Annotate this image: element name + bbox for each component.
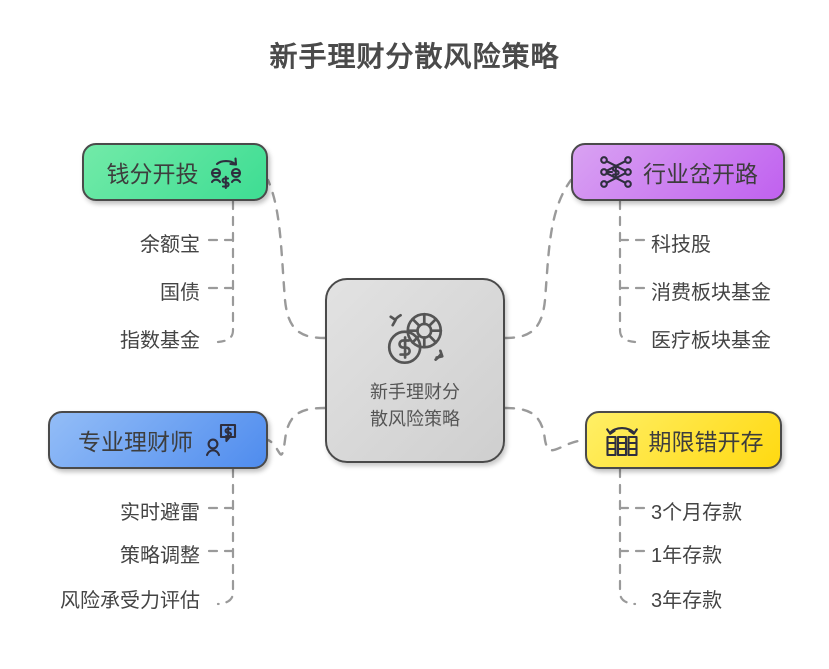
central-node-label: 新手理财分 散风险策略 [355,379,475,431]
mindmap-canvas: 新手理财分散风险策略 [0,0,829,669]
coin-lifering-icon [382,309,448,371]
leaf-term-ladder-0[interactable]: 3个月存款 [651,496,742,525]
leaf-term-ladder-1[interactable]: 1年存款 [651,539,722,568]
trunk-money-split [218,201,233,342]
deposit-ladder-icon [604,422,640,458]
leaf-professional-advisor-1[interactable]: 策略调整 [120,539,200,568]
page-title: 新手理财分散风险策略 [0,35,829,75]
trunk-professional-advisor [218,469,233,604]
branch-label-term-ladder: 期限错开存 [649,423,764,457]
leaf-industry-spread-0[interactable]: 科技股 [651,228,711,257]
branch-node-professional-advisor[interactable]: 专业理财师 [48,411,268,469]
branch-label-professional-advisor: 专业理财师 [78,423,193,457]
branch-node-money-split[interactable]: 钱分开投 [82,143,268,201]
leaf-term-ladder-2[interactable]: 3年存款 [651,584,722,613]
trunk-term-ladder [620,469,635,604]
leaf-industry-spread-1[interactable]: 消费板块基金 [651,276,771,305]
central-node-label-line2: 散风险策略 [355,406,475,432]
network-nodes-icon [598,154,634,190]
central-node[interactable]: 新手理财分 散风险策略 [325,278,505,463]
central-node-label-line1: 新手理财分 [355,379,475,405]
connector-center-to-money-split [268,180,325,338]
people-money-transfer-icon [208,154,244,190]
leaf-money-split-1[interactable]: 国债 [160,276,200,305]
leaf-money-split-0[interactable]: 余额宝 [140,228,200,257]
connector-center-to-professional-advisor [268,408,325,455]
leaf-professional-advisor-0[interactable]: 实时避雷 [120,496,200,525]
branch-node-industry-spread[interactable]: 行业岔开路 [571,143,785,201]
person-speech-dollar-icon [202,422,238,458]
connector-center-to-term-ladder [505,408,585,450]
branch-label-industry-spread: 行业岔开路 [643,155,758,189]
trunk-industry-spread [620,201,635,342]
branch-label-money-split: 钱分开投 [107,155,199,189]
connector-center-to-industry-spread [505,180,571,338]
leaf-industry-spread-2[interactable]: 医疗板块基金 [651,324,771,353]
branch-node-term-ladder[interactable]: 期限错开存 [585,411,782,469]
leaf-professional-advisor-2[interactable]: 风险承受力评估 [60,584,200,613]
leaf-money-split-2[interactable]: 指数基金 [120,324,200,353]
